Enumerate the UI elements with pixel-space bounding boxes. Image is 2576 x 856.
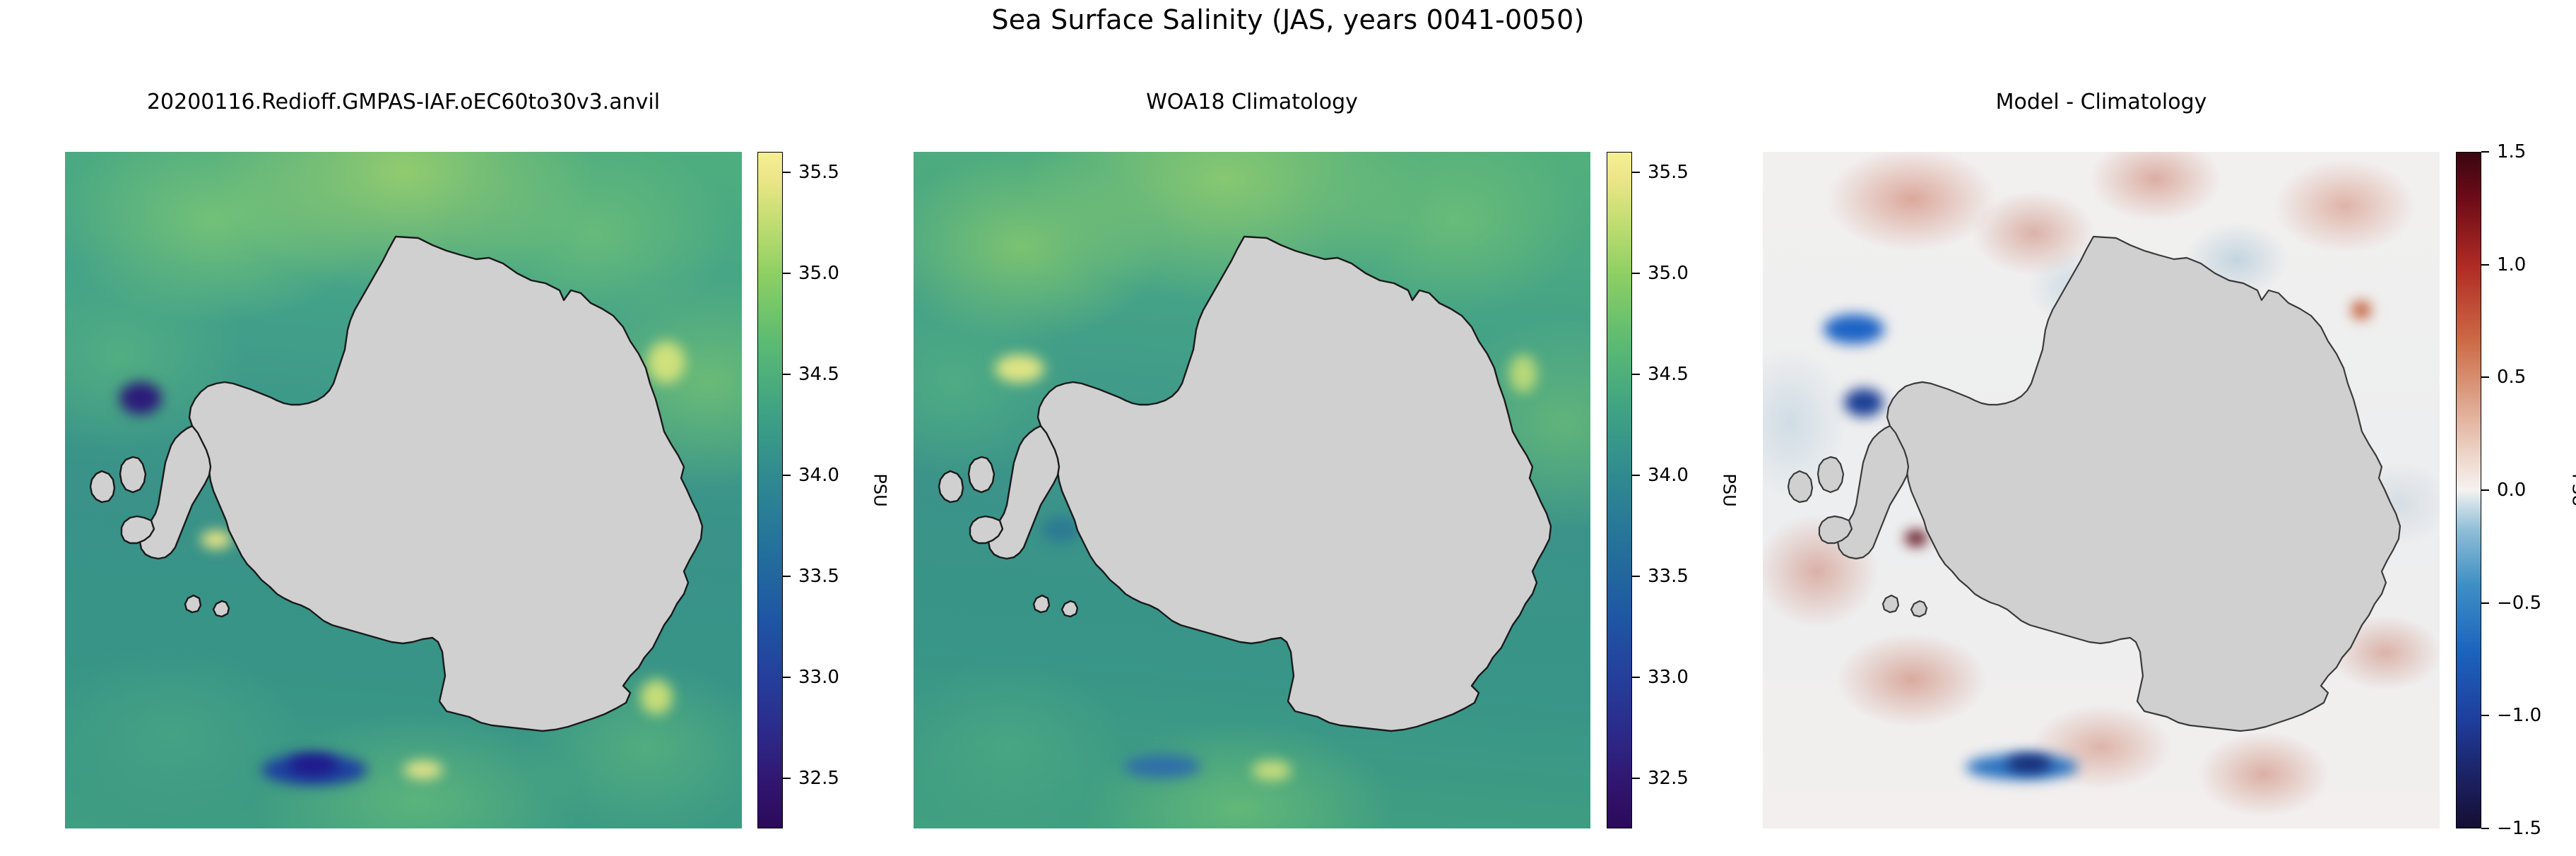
panel-climatology: WOA18 Climatology [914,152,1590,828]
colorbar-tick-mark [1632,273,1640,274]
colorbar-tick-mark [783,172,791,173]
colorbar-tick: 33.5 [1632,566,1689,587]
colorbar-tick-mark [2481,151,2489,153]
panel-title-model: 20200116.Redioff.GMPAS-IAF.oEC60to30v3.a… [3,90,804,114]
colorbar-label-model: PSU [870,473,890,506]
colorbar-tick: 33.0 [1632,667,1689,688]
colorbar-tick-mark [2481,376,2489,378]
island-west-1 [1788,471,1812,502]
colorbar-label-climatology: PSU [1720,473,1739,506]
island-small-1 [1034,595,1049,612]
antarctica-mainland [1038,237,1551,731]
island-small-2 [1911,601,1927,617]
panel-difference: Model - Climatology [1763,152,2440,828]
colorbar-tick-label: 34.5 [1648,364,1689,385]
island-west-2 [120,457,146,492]
colorbar-tick-mark [783,374,791,375]
island-small-1 [185,595,201,612]
panel-title-climatology: WOA18 Climatology [914,90,1590,114]
colorbar-tick: 33.0 [783,667,839,688]
colorbar-tick: 0.5 [2481,367,2526,388]
colorbar-tick-mark [1632,374,1640,375]
colorbar-tick-mark [1632,778,1640,779]
colorbar-tick-mark [2481,715,2489,716]
colorbar-tick-label: 33.5 [798,566,839,587]
colorbar-tick-mark [1632,172,1640,173]
antarctica-mainland [1887,237,2400,731]
antarctica-landmask [65,152,742,828]
colorbar-tick: 34.0 [783,465,839,486]
island-west-1 [90,471,114,502]
colorbar-tick: 34.5 [1632,364,1689,385]
figure-canvas: Sea Surface Salinity (JAS, years 0041-00… [0,0,2576,856]
colorbar-gradient-climatology [1607,152,1632,828]
colorbar-tick-label: 0.5 [2497,367,2526,388]
antarctica-landmask-difference [1763,152,2440,828]
colorbar-tick: 35.0 [1632,263,1689,284]
colorbar-tick-label: 32.5 [1648,768,1689,789]
colorbar-tick: −1.0 [2481,705,2541,726]
colorbar-gradient-model [757,152,783,828]
colorbar-tick-mark [2481,489,2489,491]
island-small-1 [1883,595,1898,612]
colorbar-label-difference: PSU [2569,473,2576,506]
panel-title-difference: Model - Climatology [1763,90,2440,114]
colorbar-tick: 35.5 [783,162,839,183]
colorbar-tick-label: 35.0 [1648,263,1689,284]
colorbar-tick-mark [783,475,791,476]
colorbar-tick-label: 33.0 [798,667,839,688]
colorbar-tick: 32.5 [1632,768,1689,789]
colorbar-tick-label: 33.5 [1648,566,1689,587]
colorbar-tick-label: 35.5 [798,162,839,183]
colorbar-tick-label: 33.0 [1648,667,1689,688]
colorbar-tick-mark [783,677,791,678]
colorbar-tick-mark [783,273,791,274]
antarctica-landmask-climatology [914,152,1590,828]
colorbar-tick-label: 35.0 [798,263,839,284]
colorbar-tick-label: 1.5 [2497,141,2526,162]
colorbar-tick-label: −1.5 [2497,818,2541,839]
colorbar-tick: 35.5 [1632,162,1689,183]
colorbar-tick: 1.5 [2481,141,2526,162]
map-climatology [914,152,1590,828]
colorbar-difference: 1.51.00.50.0−0.5−1.0−1.5 PSU [2456,152,2576,828]
colorbar-tick: 35.0 [783,263,839,284]
colorbar-tick-label: −1.0 [2497,705,2541,726]
antarctic-peninsula [988,426,1059,559]
map-model [65,152,742,828]
antarctica-mainland [189,237,702,731]
colorbar-tick-mark [2481,264,2489,266]
colorbar-tick-label: 32.5 [798,768,839,789]
figure-title: Sea Surface Salinity (JAS, years 0041-00… [0,4,2576,35]
colorbar-tick: 33.5 [783,566,839,587]
antarctic-peninsula [1838,426,1908,559]
colorbar-tick-label: −0.5 [2497,593,2541,614]
colorbar-tick-label: 0.0 [2497,480,2526,501]
colorbar-climatology: 32.533.033.534.034.535.035.5 PSU [1607,152,1748,828]
colorbar-tick-mark [783,778,791,779]
colorbar-model: 32.533.033.534.034.535.035.5 PSU [757,152,899,828]
colorbar-tick-label: 34.0 [798,465,839,486]
antarctic-peninsula [140,426,211,559]
colorbar-tick-label: 1.0 [2497,254,2526,275]
colorbar-tick: 32.5 [783,768,839,789]
colorbar-tick-mark [1632,677,1640,678]
colorbar-tick-label: 34.0 [1648,465,1689,486]
island-west-2 [969,457,994,492]
island-small-2 [213,601,229,617]
colorbar-tick-mark [783,576,791,577]
colorbar-tick: 0.0 [2481,480,2526,501]
colorbar-tick: 1.0 [2481,254,2526,275]
colorbar-tick-mark [1632,475,1640,476]
colorbar-ticks-difference: 1.51.00.50.0−0.5−1.0−1.5 [2481,152,2576,828]
colorbar-tick-mark [2481,602,2489,604]
colorbar-tick-mark [1632,576,1640,577]
colorbar-tick: −0.5 [2481,593,2541,614]
colorbar-tick: −1.5 [2481,818,2541,839]
colorbar-gradient-difference [2456,152,2481,828]
island-small-2 [1062,601,1077,617]
colorbar-tick-label: 34.5 [798,364,839,385]
island-west-2 [1818,457,1843,492]
colorbar-tick-mark [2481,828,2489,829]
map-difference [1763,152,2440,828]
colorbar-tick: 34.0 [1632,465,1689,486]
colorbar-tick: 34.5 [783,364,839,385]
island-west-1 [939,471,963,502]
panel-model: 20200116.Redioff.GMPAS-IAF.oEC60to30v3.a… [65,152,742,828]
colorbar-tick-label: 35.5 [1648,162,1689,183]
